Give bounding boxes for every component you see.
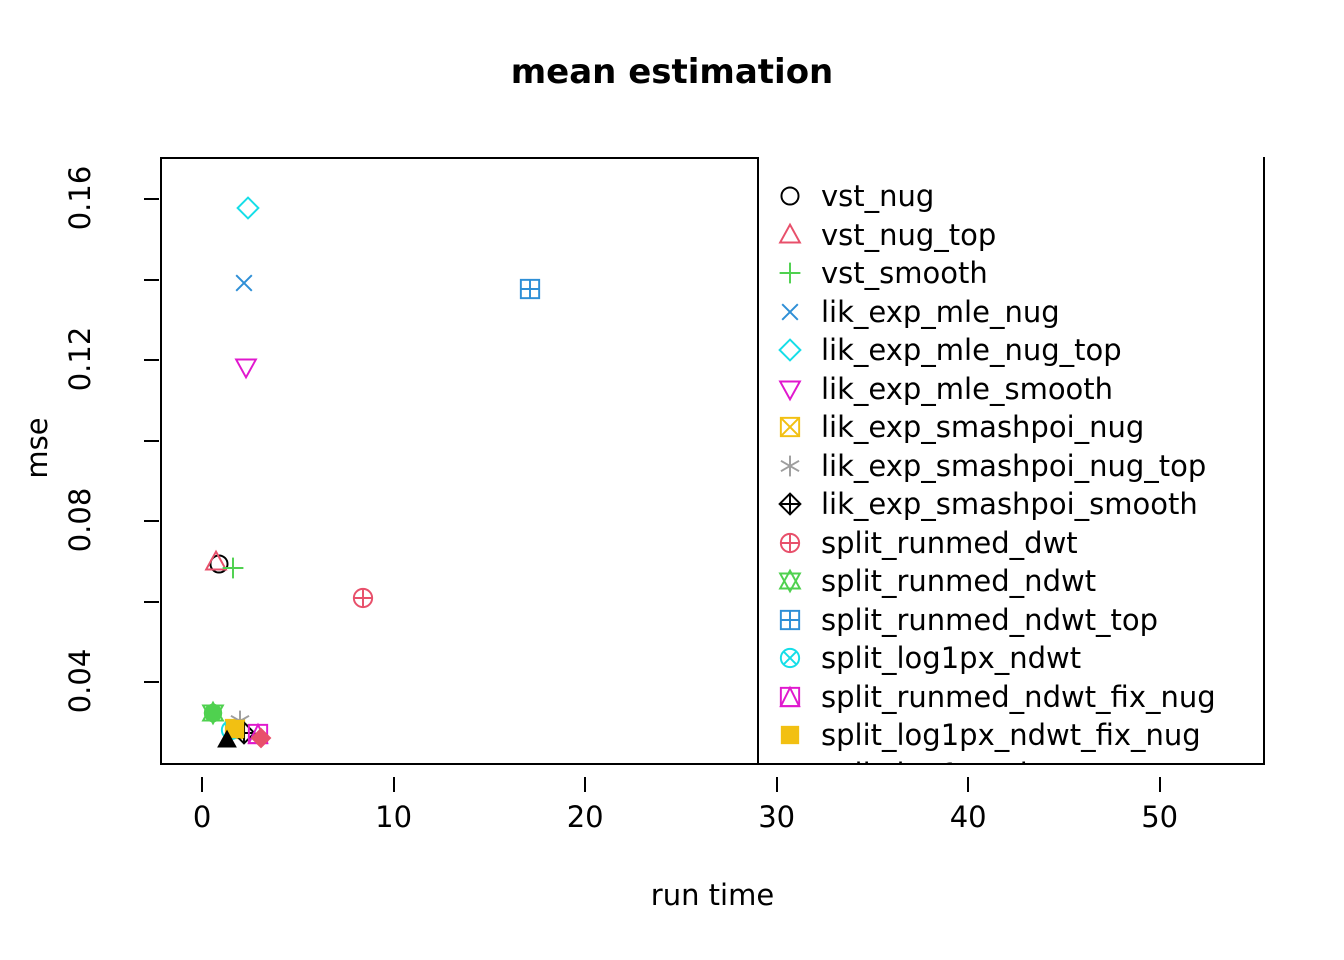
x-axis-tick-label: 40 — [950, 800, 987, 834]
data-point — [200, 700, 226, 726]
legend-item[interactable]: lik_exp_mle_smooth — [759, 370, 1263, 409]
legend-box: vst_nugvst_nug_topvst_smoothlik_exp_mle_… — [757, 157, 1265, 765]
legend-item[interactable]: split_runmed_ndwt_fix_nug — [759, 678, 1263, 717]
x-axis-tick-label: 30 — [758, 800, 795, 834]
legend-item-label: vst_nug — [821, 179, 934, 213]
y-axis-tick — [144, 359, 159, 361]
legend-item-label: lik_exp_mle_nug — [821, 295, 1060, 329]
x-axis-tick-label: 10 — [375, 800, 412, 834]
x-axis-tick-label: 0 — [193, 800, 211, 834]
x-axis-tick-label: 20 — [567, 800, 604, 834]
legend-item[interactable]: split_runmed_ndwt — [759, 562, 1263, 601]
legend-marker-icon — [759, 530, 821, 556]
legend-item[interactable]: split_log1px_ndwt_fix_nug — [759, 716, 1263, 755]
legend-item-label: lik_exp_mle_smooth — [821, 372, 1113, 406]
y-axis-tick — [144, 520, 159, 522]
y-axis-tick-label: 0.04 — [63, 631, 97, 731]
legend-item[interactable]: vst_smooth — [759, 254, 1263, 293]
legend-item-label: split_runmed_ndwt_top — [821, 603, 1158, 637]
x-axis-tick — [584, 777, 586, 792]
legend-item-label: vst_smooth — [821, 256, 988, 290]
legend-item[interactable]: lik_exp_smashpoi_smooth — [759, 485, 1263, 524]
y-axis-tick-label: 0.12 — [63, 309, 97, 409]
legend-marker-icon — [759, 491, 821, 517]
chart-canvas: mean estimation 010203040500.040.080.120… — [0, 0, 1344, 960]
x-axis-tick — [201, 777, 203, 792]
legend-item[interactable]: lik_exp_mle_nug — [759, 293, 1263, 332]
legend-marker-icon — [759, 260, 821, 286]
legend-item[interactable]: vst_nug — [759, 177, 1263, 216]
x-axis-tick — [967, 777, 969, 792]
y-axis-tick-label: 0.08 — [63, 470, 97, 570]
chart-title: mean estimation — [0, 52, 1344, 92]
legend-item-label: lik_exp_smashpoi_nug — [821, 410, 1144, 444]
x-axis-tick — [776, 777, 778, 792]
legend-marker-icon — [759, 761, 821, 765]
data-point — [231, 270, 257, 296]
legend-item-label: split_log1px_dwt — [821, 757, 1063, 765]
data-point — [517, 276, 543, 302]
y-axis-minor-tick — [144, 440, 159, 442]
legend-item[interactable]: split_log1px_dwt — [759, 755, 1263, 766]
legend-item[interactable]: split_log1px_ndwt — [759, 639, 1263, 678]
x-axis-tick — [1159, 777, 1161, 792]
legend-item[interactable]: split_runmed_dwt — [759, 524, 1263, 563]
legend-item[interactable]: vst_nug_top — [759, 216, 1263, 255]
data-point — [214, 727, 240, 753]
y-axis-tick — [144, 198, 159, 200]
legend-marker-icon — [759, 222, 821, 248]
legend-marker-icon — [759, 684, 821, 710]
data-point — [350, 585, 376, 611]
y-axis-label: mse — [20, 388, 54, 508]
legend-item-label: vst_nug_top — [821, 218, 996, 252]
legend-marker-icon — [759, 568, 821, 594]
x-axis-label: run time — [160, 878, 1265, 912]
legend-item[interactable]: lik_exp_mle_nug_top — [759, 331, 1263, 370]
legend-marker-icon — [759, 299, 821, 325]
legend-item-label: lik_exp_smashpoi_smooth — [821, 487, 1198, 521]
x-axis-tick — [393, 777, 395, 792]
y-axis-tick-label: 0.16 — [63, 148, 97, 248]
legend-item-label: split_runmed_ndwt — [821, 564, 1096, 598]
y-axis-tick — [144, 681, 159, 683]
legend-marker-icon — [759, 337, 821, 363]
legend-marker-icon — [759, 645, 821, 671]
legend-marker-icon — [759, 607, 821, 633]
legend-item-label: split_runmed_dwt — [821, 526, 1078, 560]
legend-item-label: lik_exp_smashpoi_nug_top — [821, 449, 1206, 483]
legend-marker-icon — [759, 722, 821, 748]
legend-item-label: lik_exp_mle_nug_top — [821, 333, 1122, 367]
legend-item-label: split_log1px_ndwt_fix_nug — [821, 718, 1201, 752]
legend-marker-icon — [759, 183, 821, 209]
data-point — [233, 354, 259, 380]
legend-marker-icon — [759, 376, 821, 402]
data-point — [235, 195, 261, 221]
x-axis-tick-label: 50 — [1141, 800, 1178, 834]
legend-item[interactable]: lik_exp_smashpoi_nug_top — [759, 447, 1263, 486]
legend-item[interactable]: split_runmed_ndwt_top — [759, 601, 1263, 640]
data-point — [220, 555, 246, 581]
data-point — [248, 725, 274, 751]
y-axis-minor-tick — [144, 601, 159, 603]
legend-item-label: split_runmed_ndwt_fix_nug — [821, 680, 1216, 714]
legend-item-label: split_log1px_ndwt — [821, 641, 1081, 675]
legend-marker-icon — [759, 453, 821, 479]
legend-marker-icon — [759, 414, 821, 440]
y-axis-minor-tick — [144, 279, 159, 281]
legend-item[interactable]: lik_exp_smashpoi_nug — [759, 408, 1263, 447]
